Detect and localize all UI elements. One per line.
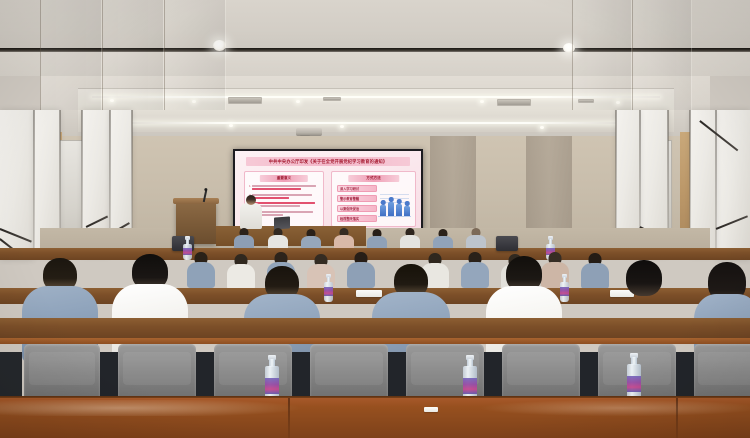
ceiling-spot-7: [340, 125, 344, 128]
seat-shadow: [388, 352, 406, 400]
slide-method-item: 警示教育警醒: [337, 195, 377, 202]
illustration-figure: [404, 206, 410, 216]
slide-bullet-text: [252, 194, 320, 200]
ceiling-projector-icon: [296, 128, 322, 136]
chair[interactable]: [694, 344, 750, 400]
seated-presenter-head: [246, 195, 256, 205]
slide-method-label: 检视整改落实: [340, 216, 359, 221]
seat-shadow: [100, 352, 118, 400]
illustration-figure: [388, 202, 394, 216]
stage-wall-panel-5: [632, 0, 692, 110]
ceiling-spot-3: [296, 100, 300, 103]
slide-method-item: 以案促改促治: [337, 205, 377, 212]
lectern-top: [173, 198, 219, 204]
foreground-desk-seam-1: [288, 398, 290, 438]
chair[interactable]: [502, 344, 580, 400]
chair[interactable]: [310, 344, 388, 400]
audience-desk-front: [0, 318, 750, 338]
desk-monitor: [496, 236, 518, 251]
foreground-desk-reflection: [0, 400, 750, 416]
cove-light-strip-lower: [120, 122, 632, 124]
seated-presenter-body: [240, 203, 262, 229]
left-panel-seam-1: [33, 110, 35, 260]
slide-bullet-text: [252, 202, 320, 208]
ac-vent-left-icon: [228, 97, 262, 104]
illustration-ground-line: [378, 216, 411, 217]
stage-wall-panel-4: [572, 0, 632, 110]
audience-person: [399, 228, 421, 250]
audience-person: [267, 228, 289, 250]
slide-method-list: 深入学习研讨 警示教育警醒 以案促改促治 检视整改落实: [337, 185, 377, 225]
slide-right-panel: 方式方法 深入学习研讨 警示教育警醒 以案促改促治 检视整改落实: [331, 171, 416, 227]
chair[interactable]: [214, 344, 292, 400]
slide-right-panel-header: 方式方法: [348, 175, 399, 182]
presentation-slide: 中共中央办公厅印发《关于在全党开展党纪学习教育的通知》 重要意义 1: [235, 151, 421, 229]
slide-bullet-text: [252, 185, 320, 191]
stage-wall-panel-3: [164, 0, 226, 110]
slide-bullet-item: 1: [249, 185, 320, 191]
slide-method-label: 以案促改促治: [340, 206, 359, 211]
left-wall-panel-1: [0, 110, 34, 260]
conference-room-photo: 中共中央办公厅印发《关于在全党开展党纪学习教育的通知》 重要意义 1: [0, 0, 750, 438]
slide-bullet-number: 1: [249, 185, 251, 188]
audience-person: [333, 228, 355, 250]
chair[interactable]: [24, 344, 100, 400]
audience-person: [186, 252, 216, 286]
seat-shadow: [0, 352, 22, 400]
ceiling-spot-6: [229, 124, 233, 127]
seat-shadow: [196, 352, 214, 400]
slide-left-panel-heading: 重要意义: [277, 176, 291, 181]
foreground-paper-scrap: [424, 407, 438, 412]
stage-wall-panel-2: [102, 0, 164, 110]
audience-person: [233, 228, 255, 250]
ceiling-spot-4: [480, 100, 484, 103]
slide-title: 中共中央办公厅印发《关于在全党开展党纪学习教育的通知》: [269, 158, 387, 165]
foreground-desk-seam-2: [676, 398, 678, 438]
seat-shadow: [484, 352, 502, 400]
illustration-figure: [396, 204, 402, 216]
slide-left-panel-header: 重要意义: [260, 175, 308, 182]
illustration-figure: [380, 205, 386, 216]
stage-wall-panel-1: [40, 0, 102, 110]
seat-shadow: [580, 352, 598, 400]
seat-shadow: [292, 352, 310, 400]
slide-right-panel-heading: 方式方法: [366, 176, 380, 181]
ceiling-spot-8: [540, 126, 544, 129]
ac-vent-small-left-icon: [323, 97, 341, 101]
chair[interactable]: [118, 344, 196, 400]
slide-title-bar: 中共中央办公厅印发《关于在全党开展党纪学习教育的通知》: [246, 157, 410, 166]
audience-person: [465, 228, 487, 250]
slide-bullet-item: 2: [249, 194, 320, 200]
slide-people-illustration-icon: [378, 192, 411, 218]
slide-method-item: 深入学习研讨: [337, 185, 377, 192]
slide-method-label: 警示教育警醒: [340, 196, 359, 201]
ac-vent-right-icon: [497, 99, 531, 106]
right-wall-panel-1: [716, 110, 750, 260]
slide-method-label: 深入学习研讨: [340, 186, 359, 191]
slide-method-item: 检视整改落实: [337, 215, 377, 222]
seat-shadow: [676, 352, 694, 400]
